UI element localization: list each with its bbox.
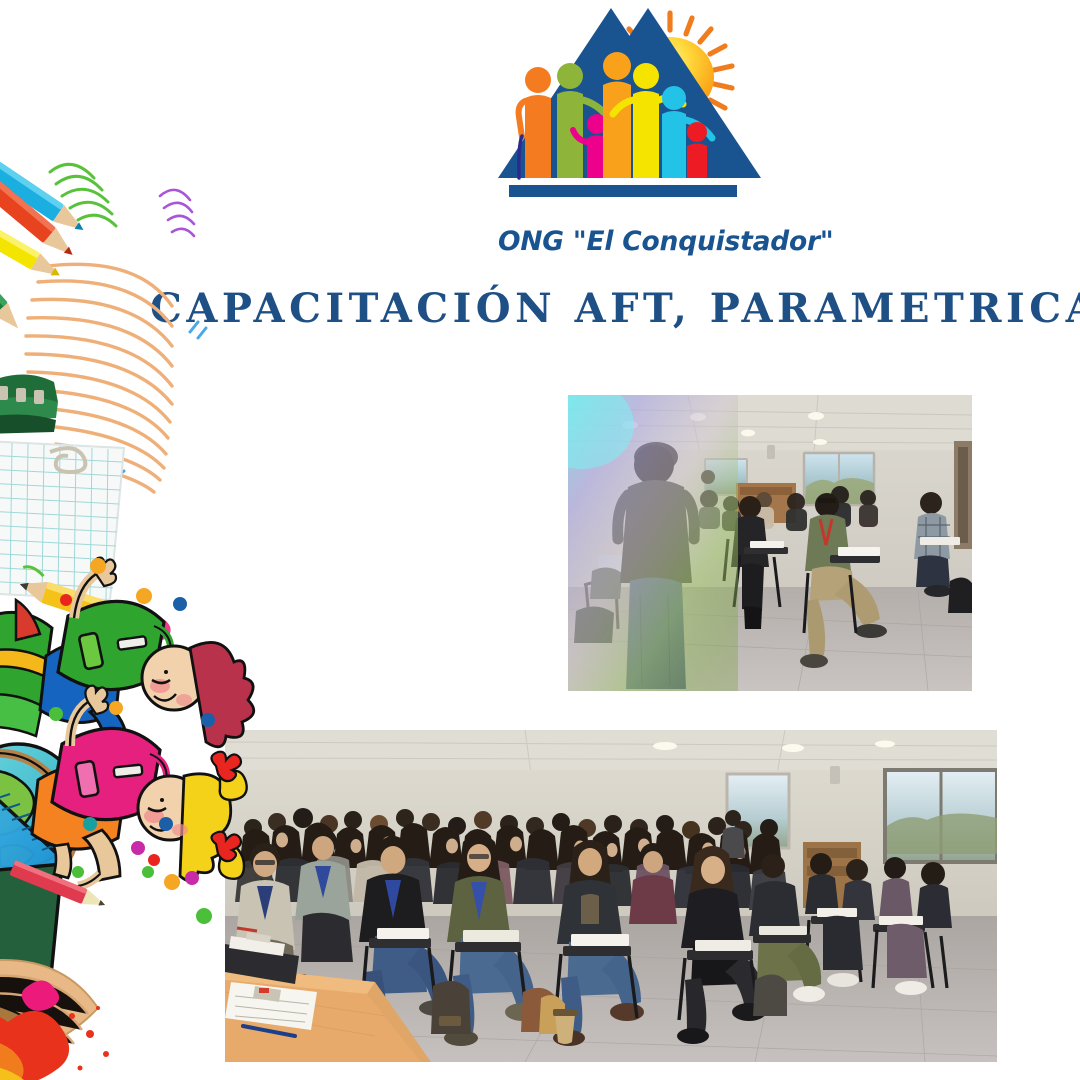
figure-orange-adult — [603, 52, 631, 178]
red-pencil — [9, 860, 108, 912]
triangle-ruler — [0, 748, 68, 884]
figure-red-child — [687, 122, 707, 178]
logo-caption: ONG "El Conquistador" — [498, 226, 798, 257]
paint-splatter — [0, 1006, 109, 1080]
stapler — [0, 374, 58, 434]
scribble-blue-dashes — [90, 322, 206, 494]
photo-auditorium-large — [225, 730, 997, 1062]
organization-logo: ONG "El Conquistador" — [498, 4, 798, 266]
logo-base-bar — [509, 185, 737, 197]
grid-notepad — [0, 440, 124, 600]
chalkboard: 0123456789 — [0, 803, 62, 994]
paint-palette — [0, 960, 98, 1061]
yellow-pencil — [14, 565, 176, 645]
photo-classroom-small — [568, 395, 972, 691]
poster-canvas: ONG "El Conquistador" CAPACITACIÓN AFT, … — [0, 0, 1080, 1080]
green-backpack-boy — [0, 558, 254, 774]
pink-backpack-girl — [9, 686, 246, 913]
logo-mark — [498, 4, 798, 230]
paint-brush — [0, 986, 37, 1032]
confetti-dots — [49, 558, 215, 924]
scribble-purple — [160, 190, 194, 236]
globe — [0, 744, 80, 872]
scribble-green — [50, 164, 116, 226]
page-title: CAPACITACIÓN AFT, PARAMETRICA SIS — [0, 289, 1080, 329]
